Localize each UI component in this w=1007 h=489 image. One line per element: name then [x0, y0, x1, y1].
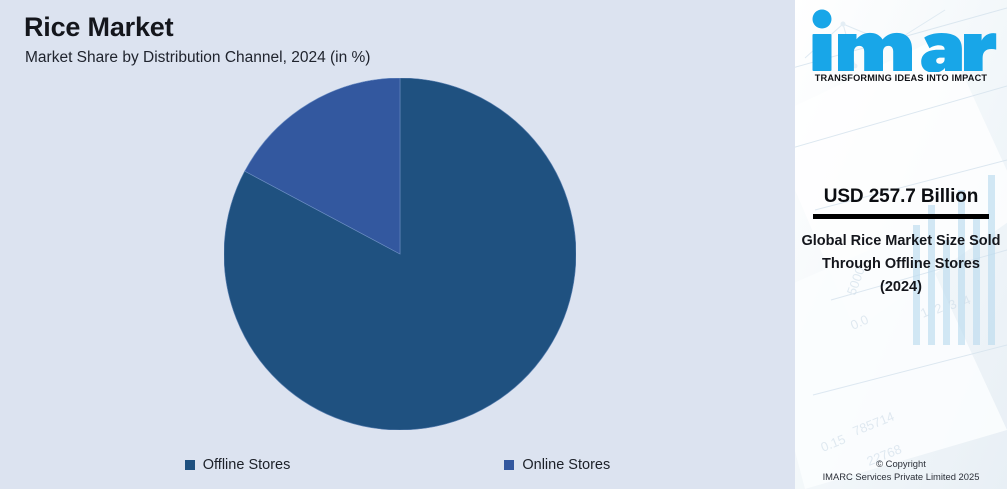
pie-chart	[224, 78, 576, 430]
copyright-line-2: IMARC Services Private Limited 2025	[795, 470, 1007, 483]
square-marker-icon	[185, 460, 195, 470]
brand-panel: 1 2 3 4 0.0 5000 0.15 22768 785714	[795, 0, 1007, 489]
highlight-stat: USD 257.7 Billion Global Rice Market Siz…	[795, 186, 1007, 299]
infographic-root: Rice Market Market Share by Distribution…	[0, 0, 1007, 489]
pie-chart-area	[0, 0, 795, 445]
legend-item-offline-stores[interactable]: Offline Stores	[185, 457, 291, 473]
chart-legend: Offline Stores Online Stores	[0, 457, 795, 473]
legend-label: Offline Stores	[203, 457, 291, 473]
imarc-tagline: TRANSFORMING IDEAS INTO IMPACT	[795, 73, 1007, 83]
legend-label: Online Stores	[522, 457, 610, 473]
stat-value: USD 257.7 Billion	[795, 186, 1007, 208]
imarc-wordmark-icon	[804, 6, 999, 72]
imarc-logo: TRANSFORMING IDEAS INTO IMPACT	[795, 6, 1007, 83]
legend-item-online-stores[interactable]: Online Stores	[504, 457, 610, 473]
copyright-line-1: © Copyright	[795, 457, 1007, 470]
copyright: © Copyright IMARC Services Private Limit…	[795, 457, 1007, 483]
stat-caption: Global Rice Market Size Sold Through Off…	[795, 230, 1007, 299]
square-marker-icon	[504, 460, 514, 470]
chart-panel: Rice Market Market Share by Distribution…	[0, 0, 795, 489]
stat-divider	[813, 214, 989, 219]
